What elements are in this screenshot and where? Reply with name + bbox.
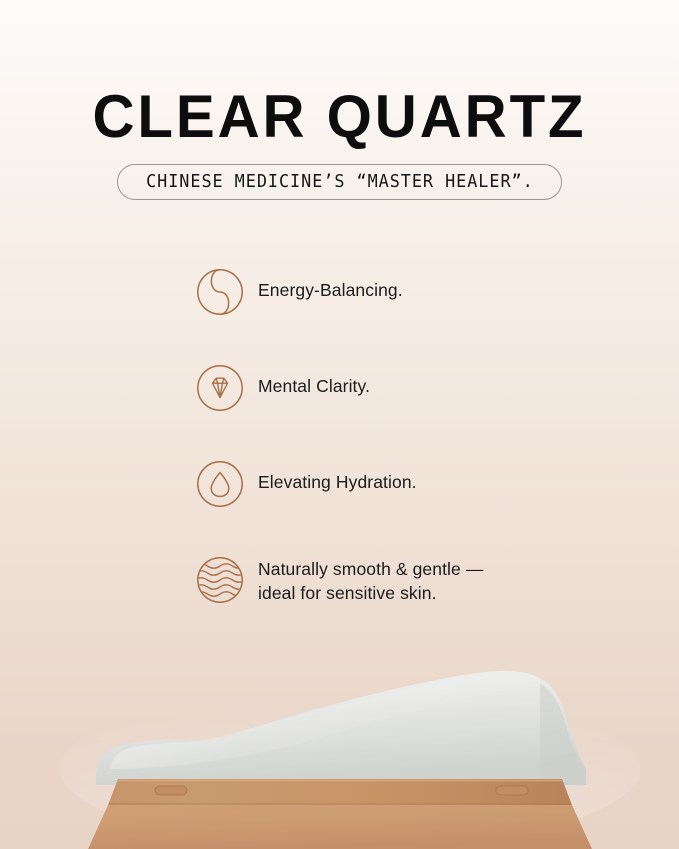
- product-feature-card: CLEAR QUARTZ CHINESE MEDICINE’S “MASTER …: [0, 0, 679, 849]
- page-title: CLEAR QUARTZ: [10, 86, 669, 148]
- box-lid-notch-right: [496, 786, 528, 795]
- subtitle-pill-wrapper: CHINESE MEDICINE’S “MASTER HEALER”.: [0, 164, 679, 200]
- water-droplet-icon: [196, 460, 244, 508]
- feature-item-mental-clarity: Mental Clarity.: [196, 364, 626, 412]
- feature-label-line2: ideal for sensitive skin.: [258, 581, 483, 605]
- box-lid-notch-left: [155, 786, 187, 795]
- feature-label: Mental Clarity.: [258, 364, 370, 398]
- feature-label: Elevating Hydration.: [258, 460, 417, 494]
- feature-label: Energy-Balancing.: [258, 268, 403, 302]
- feature-item-smooth-gentle: Naturally smooth & gentle — ideal for se…: [196, 556, 626, 605]
- yin-yang-icon: [196, 268, 244, 316]
- subtitle-text: CHINESE MEDICINE’S “MASTER HEALER”.: [146, 172, 534, 192]
- wavy-lines-icon: [196, 556, 244, 604]
- box-lid-front: [88, 805, 592, 849]
- feature-label-line1: Naturally smooth & gentle —: [258, 559, 483, 579]
- feature-label: Naturally smooth & gentle — ideal for se…: [258, 556, 483, 605]
- feature-item-elevating-hydration: Elevating Hydration.: [196, 460, 626, 508]
- feature-list: Energy-Balancing. Mental Clarity.: [196, 268, 626, 605]
- header: CLEAR QUARTZ CHINESE MEDICINE’S “MASTER …: [0, 86, 679, 200]
- product-image: [0, 619, 679, 849]
- diamond-gem-icon: [196, 364, 244, 412]
- subtitle-pill: CHINESE MEDICINE’S “MASTER HEALER”.: [117, 164, 563, 200]
- feature-item-energy-balancing: Energy-Balancing.: [196, 268, 626, 316]
